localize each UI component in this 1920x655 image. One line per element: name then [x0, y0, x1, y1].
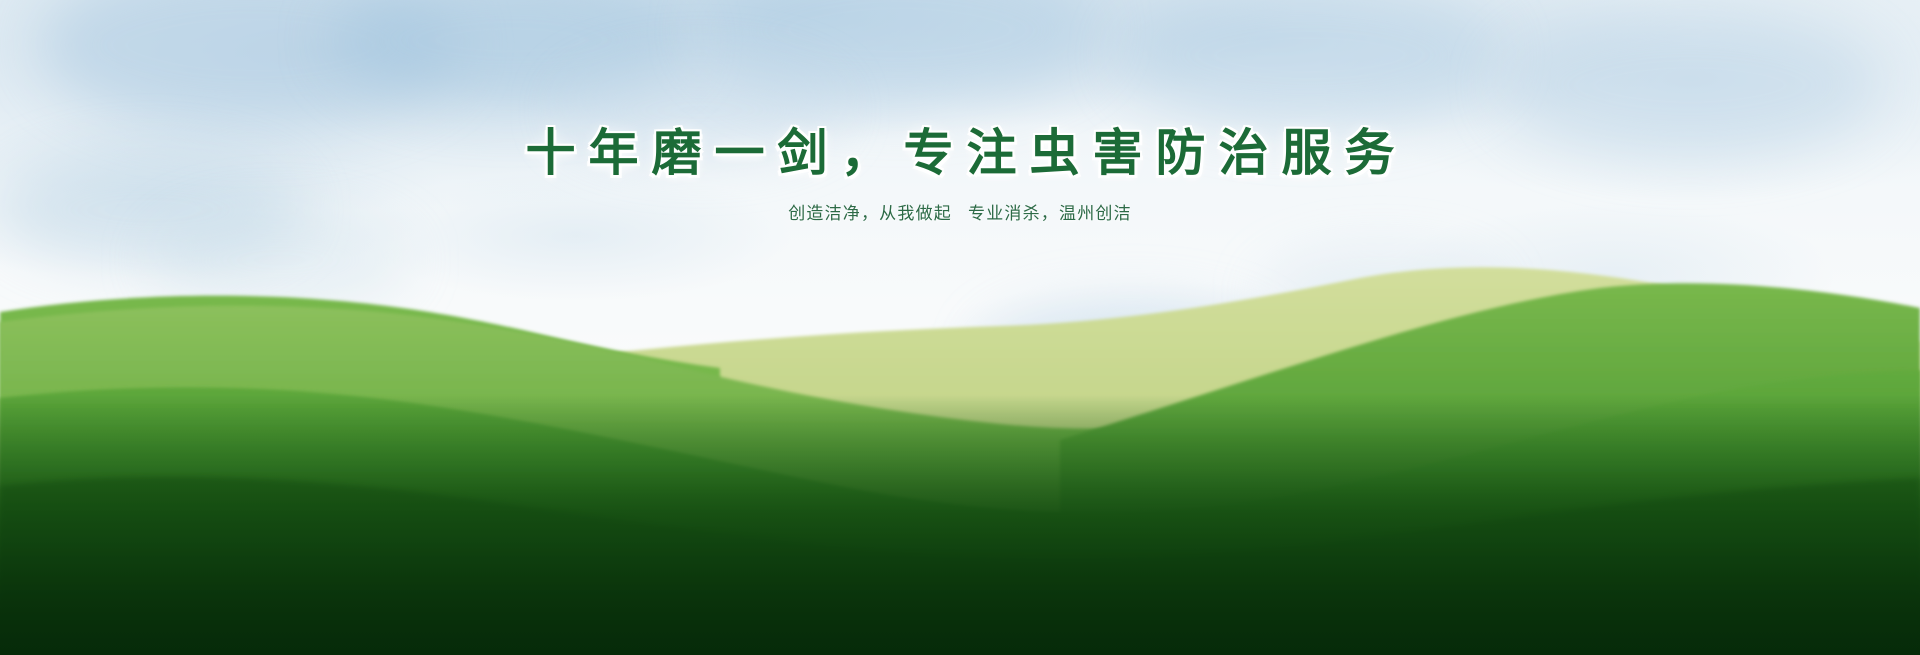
banner-headline: 十年磨一剑，专注虫害防治服务: [0, 126, 1920, 180]
banner-subtitle-right: 专业消杀，温州创洁: [968, 204, 1132, 224]
banner-subtitle-left: 创造洁净，从我做起: [788, 204, 952, 224]
banner-subtitle: 创造洁净，从我做起专业消杀，温州创洁: [0, 202, 1920, 228]
landscape-hills: [0, 0, 1920, 655]
hero-banner: 十年磨一剑，专注虫害防治服务 创造洁净，从我做起专业消杀，温州创洁: [0, 0, 1920, 655]
banner-copy: 十年磨一剑，专注虫害防治服务 创造洁净，从我做起专业消杀，温州创洁: [0, 126, 1920, 228]
hill-deep-fade: [0, 395, 1920, 655]
